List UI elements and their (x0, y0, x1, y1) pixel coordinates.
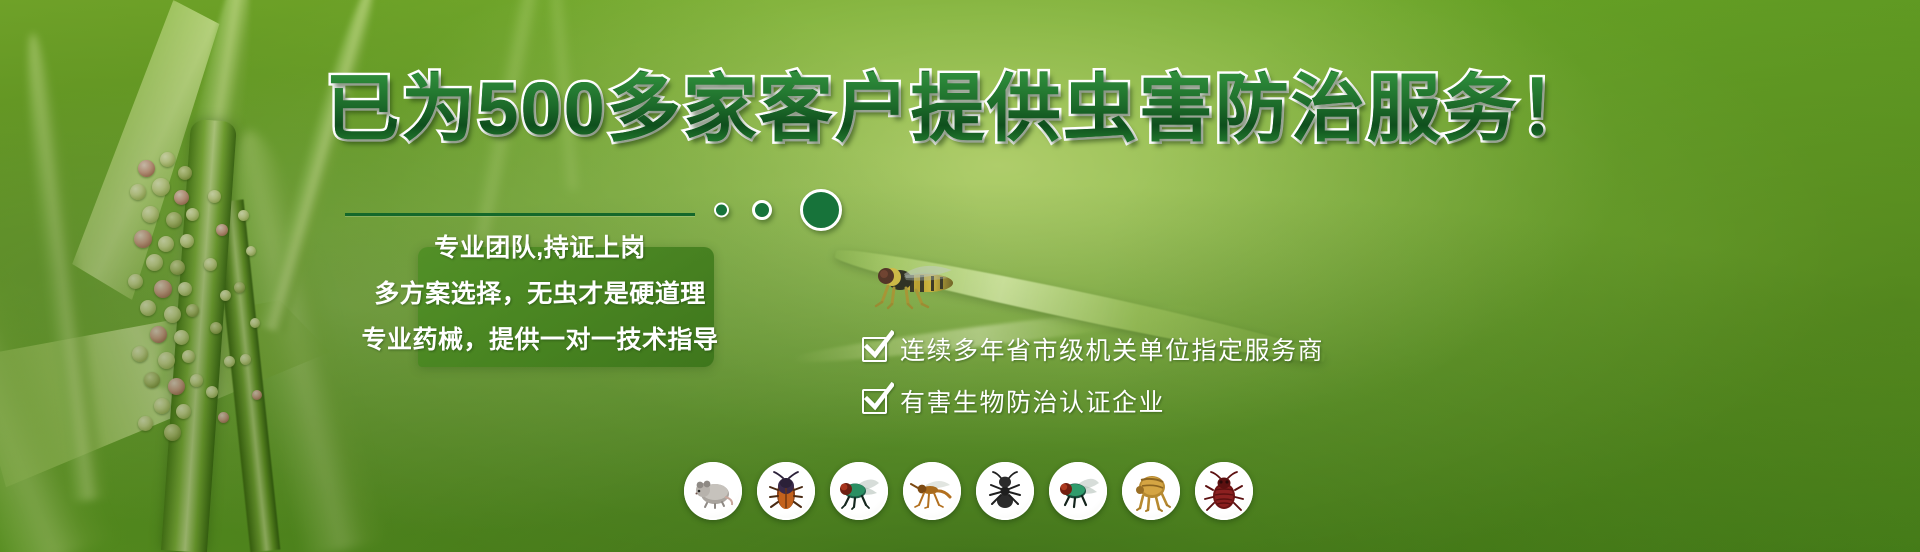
mosquito-icon[interactable] (903, 462, 961, 520)
cockroach-icon[interactable] (757, 462, 815, 520)
credential-text: 有害生物防治认证企业 (900, 383, 1165, 419)
feature-panel-text: 专业团队,持证上岗 多方案选择，无虫才是硬道理 专业药械，提供一对一技术指导 (330, 212, 750, 372)
checkbox-checked-icon (862, 337, 887, 362)
feature-line-1: 专业团队,持证上岗 (434, 228, 645, 264)
list-item: 连续多年省市级机关单位指定服务商 (862, 332, 1562, 366)
feature-line-3: 专业药械，提供一对一技术指导 (361, 320, 718, 356)
pest-icon-row (684, 462, 1253, 520)
flea-icon[interactable] (1122, 462, 1180, 520)
credential-text: 连续多年省市级机关单位指定服务商 (900, 331, 1324, 367)
bedbug-icon[interactable] (1195, 462, 1253, 520)
promotional-banner: 已为500多家客户提供虫害防治服务！ 已为500多家客户提供虫害防治服务！ 专业… (0, 0, 1920, 552)
blowfly-alt-icon[interactable] (1049, 462, 1107, 520)
rodent-icon[interactable] (684, 462, 742, 520)
checkbox-checked-icon (862, 389, 887, 414)
large-dot-icon (800, 189, 842, 231)
list-item: 有害生物防治认证企业 (862, 384, 1562, 418)
credentials-list: 连续多年省市级机关单位指定服务商 有害生物防治认证企业 (862, 332, 1562, 436)
ant-icon[interactable] (976, 462, 1034, 520)
medium-dot-icon (752, 200, 772, 220)
feature-line-2: 多方案选择，无虫才是硬道理 (374, 274, 706, 310)
blowfly-icon[interactable] (830, 462, 888, 520)
page-title: 已为500多家客户提供虫害防治服务！ (0, 72, 1920, 146)
